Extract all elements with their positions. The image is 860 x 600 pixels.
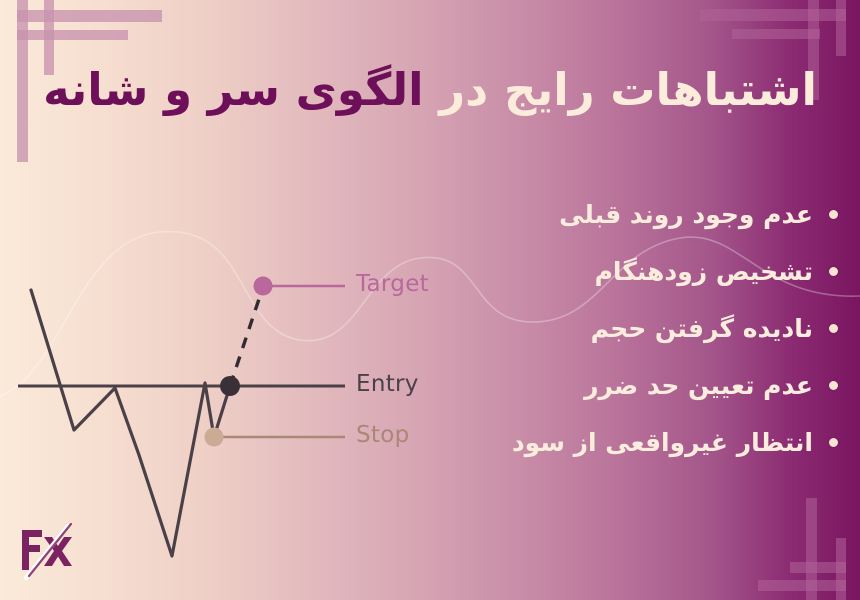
list-item-label: تشخیص زودهنگام (595, 257, 813, 286)
list-item: عدم تعیین حد ضرر (448, 357, 838, 414)
target-label: Target (356, 271, 429, 297)
bullet-dot-icon (829, 324, 838, 333)
stop-marker-dot (205, 428, 224, 447)
fx-logo (16, 520, 92, 582)
bullet-dot-icon (829, 438, 838, 447)
list-item-label: انتظار غیرواقعی از سود (512, 428, 813, 457)
list-item: عدم وجود روند قبلی (448, 186, 838, 243)
infographic-canvas: اشتباهات رایج در الگوی سر و شانه Target … (0, 0, 860, 600)
price-line (31, 290, 230, 556)
bullet-dot-icon (829, 381, 838, 390)
list-item-label: عدم وجود روند قبلی (559, 200, 813, 229)
list-item-label: نادیده گرفتن حجم (591, 314, 813, 343)
stop-label: Stop (356, 422, 410, 448)
list-item-label: عدم تعیین حد ضرر (584, 371, 813, 400)
list-item: تشخیص زودهنگام (448, 243, 838, 300)
bullet-dot-icon (829, 267, 838, 276)
list-item: نادیده گرفتن حجم (448, 300, 838, 357)
entry-label: Entry (356, 371, 419, 397)
target-marker-dot (254, 277, 273, 296)
list-item: انتظار غیرواقعی از سود (448, 414, 838, 471)
projection-line-dashed (230, 287, 263, 386)
bullet-dot-icon (829, 210, 838, 219)
mistakes-list: عدم وجود روند قبلیتشخیص زودهنگامنادیده گ… (448, 186, 838, 471)
entry-marker-dot (220, 376, 240, 396)
